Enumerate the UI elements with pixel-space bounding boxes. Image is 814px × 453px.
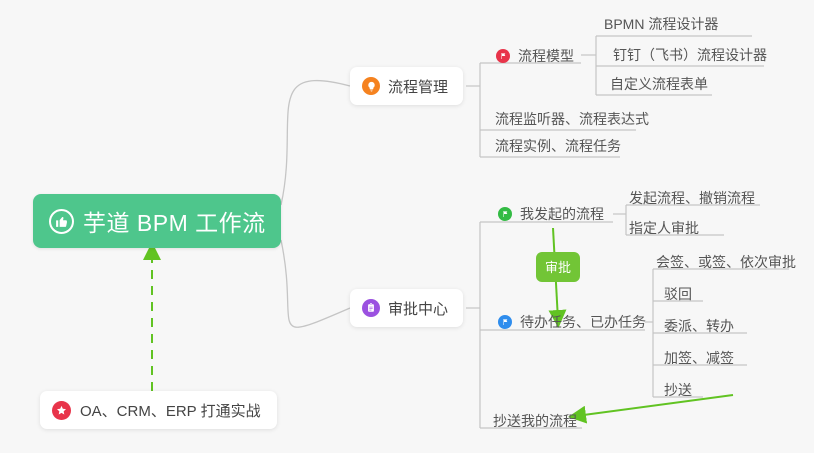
star-icon bbox=[52, 401, 71, 420]
topic-cc[interactable]: 抄送 bbox=[660, 378, 698, 405]
topic-label-listener-expression: 流程监听器、流程表达式 bbox=[495, 109, 649, 129]
topic-listener-expression[interactable]: 流程监听器、流程表达式 bbox=[491, 107, 655, 134]
topic-label-cc: 抄送 bbox=[664, 380, 692, 400]
topic-multi-sign[interactable]: 会签、或签、依次审批 bbox=[652, 250, 802, 277]
topic-reject[interactable]: 驳回 bbox=[660, 282, 698, 309]
topic-assignee-approval[interactable]: 指定人审批 bbox=[625, 216, 705, 243]
topic-label-custom-form: 自定义流程表单 bbox=[610, 74, 708, 94]
lightbulb-icon bbox=[362, 77, 380, 95]
topic-todo-done[interactable]: 待办任务、已办任务 bbox=[494, 310, 652, 337]
topic-label-start-cancel: 发起流程、撤销流程 bbox=[629, 188, 755, 208]
branch-label-process-management: 流程管理 bbox=[388, 76, 448, 97]
root-label: 芋道 BPM 工作流 bbox=[83, 204, 266, 238]
topic-label-cc-to-me: 抄送我的流程 bbox=[493, 411, 577, 431]
topic-instance-task[interactable]: 流程实例、流程任务 bbox=[491, 134, 627, 161]
topic-label-delegate-transfer: 委派、转办 bbox=[664, 316, 734, 336]
branch-label-approval-center: 审批中心 bbox=[388, 298, 448, 319]
topic-my-started[interactable]: 我发起的流程 bbox=[494, 202, 610, 229]
topic-custom-form[interactable]: 自定义流程表单 bbox=[606, 72, 714, 99]
topic-delegate-transfer[interactable]: 委派、转办 bbox=[660, 314, 740, 341]
flag-icon bbox=[496, 49, 510, 63]
topic-label-bpmn-designer: BPMN 流程设计器 bbox=[604, 14, 718, 34]
topic-dingtalk-designer[interactable]: 钉钉（飞书）流程设计器 bbox=[609, 43, 773, 70]
link-root-to-approval-center bbox=[281, 240, 350, 327]
topic-add-remove-sign[interactable]: 加签、减签 bbox=[660, 346, 740, 373]
arrow-cc-to-ccme bbox=[576, 395, 733, 416]
annotation-approval-badge: 审批 bbox=[536, 252, 580, 282]
branch-node-approval-center[interactable]: 审批中心 bbox=[350, 289, 463, 327]
topic-label-assignee-approval: 指定人审批 bbox=[629, 218, 699, 238]
branch-node-process-management[interactable]: 流程管理 bbox=[350, 67, 463, 105]
topic-process-model[interactable]: 流程模型 bbox=[492, 44, 580, 71]
clipboard-icon bbox=[362, 299, 380, 317]
flag-icon bbox=[498, 207, 512, 221]
topic-label-process-model: 流程模型 bbox=[518, 46, 574, 66]
callout-node-integration[interactable]: OA、CRM、ERP 打通实战 bbox=[40, 391, 277, 429]
thumbs-up-icon bbox=[49, 209, 74, 234]
topic-label-todo-done: 待办任务、已办任务 bbox=[520, 312, 646, 332]
topic-cc-to-me[interactable]: 抄送我的流程 bbox=[489, 409, 583, 436]
flag-icon bbox=[498, 315, 512, 329]
link-root-to-process-management bbox=[281, 81, 350, 205]
root-node[interactable]: 芋道 BPM 工作流 bbox=[33, 194, 281, 248]
topic-label-reject: 驳回 bbox=[664, 284, 692, 304]
topic-label-dingtalk-designer: 钉钉（飞书）流程设计器 bbox=[613, 45, 767, 65]
topic-label-instance-task: 流程实例、流程任务 bbox=[495, 136, 621, 156]
callout-label: OA、CRM、ERP 打通实战 bbox=[80, 400, 261, 421]
topic-label-add-remove-sign: 加签、减签 bbox=[664, 348, 734, 368]
topic-start-cancel[interactable]: 发起流程、撤销流程 bbox=[625, 186, 761, 213]
topic-label-my-started: 我发起的流程 bbox=[520, 204, 604, 224]
mindmap-canvas: 芋道 BPM 工作流 流程管理 审批中心 流程模型 BPMN 流程设计器 钉钉（ bbox=[0, 0, 814, 453]
topic-label-multi-sign: 会签、或签、依次审批 bbox=[656, 252, 796, 272]
topic-bpmn-designer[interactable]: BPMN 流程设计器 bbox=[600, 12, 724, 39]
